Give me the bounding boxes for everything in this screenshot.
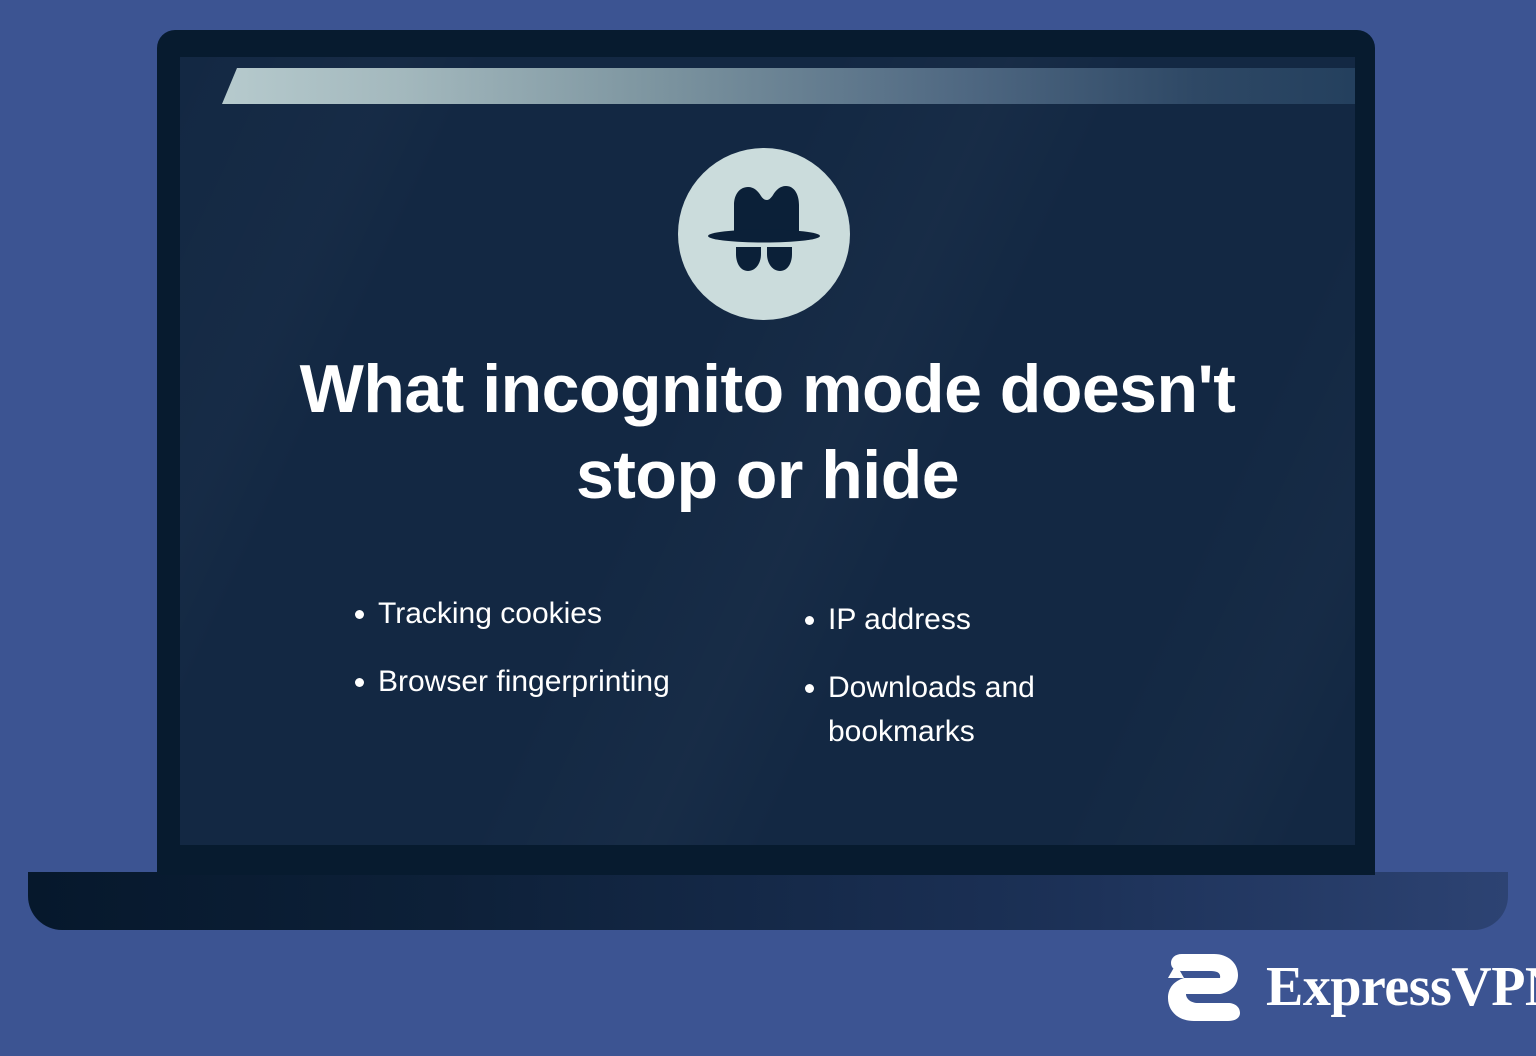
expressvpn-logo: ExpressVPN bbox=[1164, 952, 1536, 1022]
list-item-label: Downloads and bookmarks bbox=[828, 666, 1125, 754]
expressvpn-e-mark-icon bbox=[1164, 952, 1246, 1022]
bullet-dot-icon bbox=[805, 616, 814, 625]
bullet-columns: Tracking cookies Browser fingerprinting … bbox=[355, 592, 1175, 778]
bullet-dot-icon bbox=[805, 684, 814, 693]
page-title: What incognito mode doesn't stop or hide bbox=[230, 347, 1305, 518]
list-item: Browser fingerprinting bbox=[355, 660, 675, 704]
bullet-dot-icon bbox=[355, 610, 364, 619]
list-item-label: Browser fingerprinting bbox=[378, 660, 675, 704]
bullet-column-right: IP address Downloads and bookmarks bbox=[805, 592, 1125, 778]
laptop-base bbox=[28, 872, 1508, 930]
expressvpn-wordmark: ExpressVPN bbox=[1266, 959, 1536, 1015]
bullet-dot-icon bbox=[355, 678, 364, 687]
top-accent-bar bbox=[222, 68, 1355, 104]
list-item: Tracking cookies bbox=[355, 592, 675, 636]
infographic-canvas: What incognito mode doesn't stop or hide… bbox=[0, 0, 1536, 1056]
list-item: IP address bbox=[805, 598, 1125, 642]
incognito-icon bbox=[678, 148, 850, 320]
list-item-label: Tracking cookies bbox=[378, 592, 675, 636]
list-item-label: IP address bbox=[828, 598, 1125, 642]
bullet-column-left: Tracking cookies Browser fingerprinting bbox=[355, 592, 675, 778]
list-item: Downloads and bookmarks bbox=[805, 666, 1125, 754]
